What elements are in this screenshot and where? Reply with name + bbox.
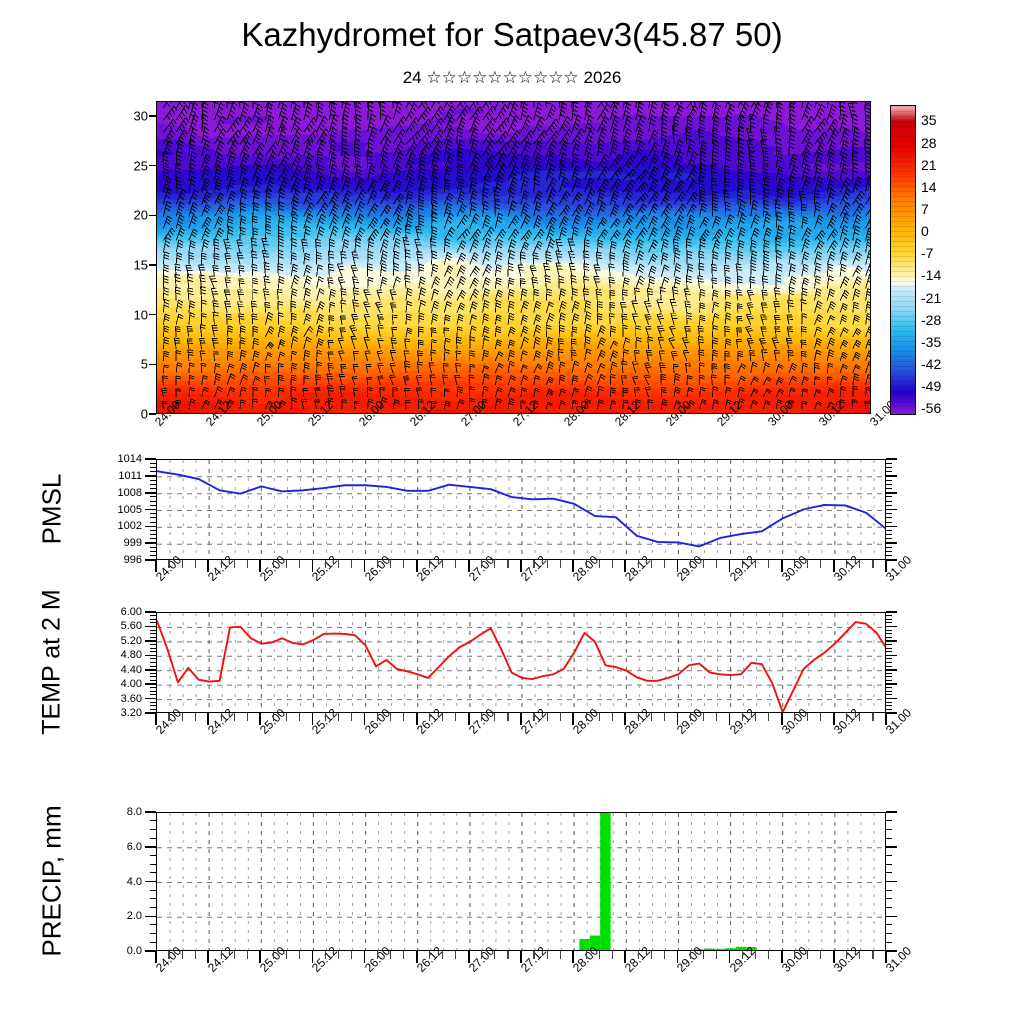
subtitle-year: 2026	[583, 68, 621, 87]
x-minor-tickmark	[351, 713, 352, 721]
y-minor-tickmark	[150, 463, 156, 464]
y-minor-tickmark	[150, 615, 156, 616]
subtitle-month-glyphs: ☆☆☆☆☆☆☆☆☆☆	[426, 68, 578, 87]
x-minor-tickmark	[429, 951, 430, 959]
y-tickmark	[145, 559, 156, 561]
y-tickmark	[145, 509, 156, 511]
tempYTicks-label: 4.40	[121, 664, 142, 676]
y-minor-tickmark-right	[886, 907, 892, 908]
x-minor-tickmark	[859, 713, 860, 721]
x-minor-tickmark	[299, 713, 300, 721]
colorbar-tick-label: 28	[921, 135, 937, 151]
temp-x-axis: 24.0024.1225.0025.1226.0026.1227.0027.12…	[156, 713, 956, 769]
precip-x-axis: 24.0024.1225.0025.1226.0026.1227.0027.12…	[156, 951, 956, 1007]
y-minor-tickmark-right	[886, 547, 892, 548]
y-minor-tickmark	[150, 538, 156, 539]
y-minor-tickmark	[150, 517, 156, 518]
x-minor-tickmark	[599, 951, 600, 959]
colorbar-tick-label: 21	[921, 157, 937, 173]
precYTicks-label: 8.0	[127, 806, 142, 818]
y-minor-tickmark	[150, 855, 156, 856]
pmslYTicks-right-marks	[886, 459, 898, 560]
y-minor-tickmark-right	[886, 924, 892, 925]
y-minor-tickmark-right	[886, 890, 892, 891]
tempYTicks-label: 6.00	[121, 606, 142, 618]
y-tickmark	[145, 846, 156, 848]
x-minor-tickmark	[403, 951, 404, 959]
main-y-tick-label: 15	[134, 257, 148, 272]
y-tickmark	[145, 655, 156, 657]
y-tickmark-right	[886, 811, 897, 813]
x-minor-tickmark	[507, 951, 508, 959]
y-minor-tickmark-right	[886, 658, 892, 659]
colorbar-tick-label: 35	[921, 112, 937, 128]
pmslYTicks-label: 1014	[118, 453, 142, 465]
y-minor-tickmark	[150, 829, 156, 830]
y-tickmark	[145, 526, 156, 528]
y-minor-tickmark	[150, 658, 156, 659]
y-tickmark	[145, 811, 156, 813]
precip-y-axis: 0.02.04.06.08.0	[98, 812, 142, 951]
tempYTicks-label: 4.80	[121, 649, 142, 661]
x-minor-tickmark	[859, 951, 860, 959]
colorbar-tick-label: -14	[921, 267, 941, 283]
main-y-tickmark	[149, 264, 156, 266]
y-minor-tickmark-right	[886, 702, 892, 703]
pmsl-panel	[156, 459, 886, 560]
x-minor-tickmark	[273, 713, 274, 721]
y-minor-tickmark-right	[886, 517, 892, 518]
x-minor-tickmark	[872, 560, 873, 568]
pmsl-y-axis: 99699910021005100810111014	[98, 459, 142, 560]
x-minor-tickmark	[286, 951, 287, 959]
y-minor-tickmark-right	[886, 648, 892, 649]
x-minor-tickmark	[755, 951, 756, 959]
x-minor-tickmark	[651, 713, 652, 721]
colorbar-tick-label: -35	[921, 334, 941, 350]
x-minor-tickmark	[286, 560, 287, 568]
y-minor-tickmark	[150, 648, 156, 649]
tempYTicks-label: 5.60	[121, 620, 142, 632]
x-minor-tickmark	[768, 951, 769, 959]
y-minor-tickmark-right	[886, 855, 892, 856]
x-minor-tickmark	[820, 560, 821, 568]
pmslYTicks-label: 999	[124, 537, 142, 549]
x-minor-tickmark	[846, 951, 847, 959]
main-y-axis: 051015202530	[110, 101, 148, 414]
main-y-tick-label: 10	[134, 307, 148, 322]
y-minor-tickmark-right	[886, 488, 892, 489]
y-tickmark-right	[886, 916, 897, 918]
x-minor-tickmark	[182, 560, 183, 568]
x-minor-tickmark	[455, 951, 456, 959]
y-tickmark	[145, 916, 156, 918]
y-minor-tickmark-right	[886, 872, 892, 873]
x-minor-tickmark	[481, 951, 482, 959]
x-minor-tickmark	[638, 560, 639, 568]
x-minor-tickmark	[377, 951, 378, 959]
y-tickmark-right	[886, 846, 897, 848]
y-tickmark	[145, 475, 156, 477]
y-minor-tickmark	[150, 496, 156, 497]
y-minor-tickmark-right	[886, 513, 892, 514]
x-minor-tickmark	[481, 713, 482, 721]
main-y-tick-label: 0	[141, 407, 148, 422]
y-tickmark-right	[886, 492, 897, 494]
pmslYTicks-label: 996	[124, 554, 142, 566]
x-minor-tickmark	[481, 560, 482, 568]
y-minor-tickmark	[150, 555, 156, 556]
x-minor-tickmark	[286, 713, 287, 721]
y-minor-tickmark-right	[886, 673, 892, 674]
main-y-tick-label: 20	[134, 208, 148, 223]
main-y-tickmark	[149, 314, 156, 316]
y-minor-tickmark-right	[886, 680, 892, 681]
x-minor-tickmark	[703, 713, 704, 721]
y-minor-tickmark	[150, 505, 156, 506]
page-subtitle: 24 ☆☆☆☆☆☆☆☆☆☆ 2026	[0, 68, 1024, 88]
colorbar-tick-label: -49	[921, 378, 941, 394]
x-minor-tickmark	[429, 560, 430, 568]
y-tickmark	[145, 881, 156, 883]
y-minor-tickmark	[150, 924, 156, 925]
y-minor-tickmark	[150, 933, 156, 934]
x-minor-tickmark	[560, 713, 561, 721]
x-minor-tickmark	[533, 951, 534, 959]
main-x-axis: 24.0024.1225.0025.1226.0026.1227.0027.12…	[156, 417, 931, 461]
x-minor-tickmark	[221, 560, 222, 568]
y-minor-tickmark	[150, 622, 156, 623]
x-minor-tickmark	[273, 951, 274, 959]
x-minor-tickmark	[325, 713, 326, 721]
y-minor-tickmark-right	[886, 471, 892, 472]
x-minor-tickmark	[234, 560, 235, 568]
x-minor-tickmark	[533, 713, 534, 721]
x-minor-tickmark	[716, 951, 717, 959]
x-minor-tickmark	[664, 560, 665, 568]
x-minor-tickmark	[377, 560, 378, 568]
x-minor-tickmark	[794, 560, 795, 568]
y-minor-tickmark	[150, 651, 156, 652]
y-minor-tickmark-right	[886, 622, 892, 623]
y-minor-tickmark-right	[886, 463, 892, 464]
main-y-tickmark	[149, 215, 156, 217]
temperature-colorbar	[890, 105, 916, 415]
y-tickmark	[145, 712, 156, 714]
main-y-tick-label: 30	[134, 108, 148, 123]
x-minor-tickmark	[234, 951, 235, 959]
y-minor-tickmark	[150, 644, 156, 645]
x-minor-tickmark	[794, 951, 795, 959]
y-minor-tickmark	[150, 637, 156, 638]
y-minor-tickmark-right	[886, 820, 892, 821]
pmslYTicks-label: 1002	[118, 520, 142, 532]
precYTicks-label: 6.0	[127, 841, 142, 853]
subtitle-day: 24	[403, 68, 422, 87]
x-minor-tickmark	[612, 560, 613, 568]
y-minor-tickmark-right	[886, 651, 892, 652]
y-minor-tickmark-right	[886, 467, 892, 468]
x-minor-tickmark	[168, 951, 169, 959]
y-minor-tickmark	[150, 534, 156, 535]
x-minor-tickmark	[494, 713, 495, 721]
y-minor-tickmark	[150, 530, 156, 531]
x-minor-tickmark	[872, 713, 873, 721]
tempYTicks-label: 4.00	[121, 678, 142, 690]
temp-2m-panel	[156, 612, 886, 713]
y-tickmark	[145, 698, 156, 700]
pmslYTicks-marks	[144, 459, 156, 560]
tempYTicks-marks	[144, 612, 156, 713]
y-tickmark-right	[886, 640, 897, 642]
x-minor-tickmark	[586, 560, 587, 568]
main-y-tick-label: 5	[141, 357, 148, 372]
precYTicks-label: 0.0	[127, 945, 142, 957]
x-minor-tickmark	[338, 713, 339, 721]
x-minor-tickmark	[390, 713, 391, 721]
y-tickmark	[145, 626, 156, 628]
y-minor-tickmark-right	[886, 496, 892, 497]
x-minor-tickmark	[859, 560, 860, 568]
y-minor-tickmark-right	[886, 505, 892, 506]
x-minor-tickmark	[325, 951, 326, 959]
y-minor-tickmark-right	[886, 709, 892, 710]
precYTicks-marks	[144, 812, 156, 951]
y-tickmark-right	[886, 475, 897, 477]
y-tickmark-right	[886, 611, 897, 613]
y-minor-tickmark	[150, 705, 156, 706]
y-tickmark	[145, 611, 156, 613]
upper-air-cross-section-plot	[156, 101, 871, 414]
pmsl-x-axis: 24.0024.1225.0025.1226.0026.1227.0027.12…	[156, 560, 956, 616]
x-minor-tickmark	[768, 713, 769, 721]
y-minor-tickmark	[150, 513, 156, 514]
y-minor-tickmark-right	[886, 530, 892, 531]
y-tickmark	[145, 458, 156, 460]
y-minor-tickmark	[150, 488, 156, 489]
y-minor-tickmark-right	[886, 676, 892, 677]
y-tickmark-right	[886, 683, 897, 685]
pmslYTicks-label: 1008	[118, 487, 142, 499]
colorbar-tick-label: -56	[921, 400, 941, 416]
y-minor-tickmark-right	[886, 619, 892, 620]
x-minor-tickmark	[664, 713, 665, 721]
x-minor-tickmark	[716, 560, 717, 568]
y-minor-tickmark-right	[886, 484, 892, 485]
y-minor-tickmark	[150, 666, 156, 667]
y-minor-tickmark-right	[886, 630, 892, 631]
y-minor-tickmark	[150, 673, 156, 674]
x-minor-tickmark	[494, 560, 495, 568]
x-minor-tickmark	[429, 713, 430, 721]
y-tickmark-right	[886, 559, 897, 561]
colorbar-tick-label: -21	[921, 290, 941, 306]
y-minor-tickmark	[150, 633, 156, 634]
y-minor-tickmark-right	[886, 705, 892, 706]
temp-y-axis: 3.203.604.004.404.805.205.606.00	[98, 612, 142, 713]
y-minor-tickmark-right	[886, 633, 892, 634]
pmslYTicks-label: 1011	[118, 470, 142, 482]
colorbar-tick-label: -28	[921, 312, 941, 328]
x-minor-tickmark	[195, 951, 196, 959]
x-minor-tickmark	[403, 713, 404, 721]
y-tickmark	[145, 542, 156, 544]
y-minor-tickmark-right	[886, 933, 892, 934]
y-minor-tickmark-right	[886, 637, 892, 638]
x-minor-tickmark	[651, 560, 652, 568]
y-tickmark	[145, 492, 156, 494]
main-y-tickmark	[149, 165, 156, 167]
x-minor-tickmark	[690, 713, 691, 721]
x-minor-tickmark	[533, 560, 534, 568]
x-minor-tickmark	[807, 951, 808, 959]
x-minor-tickmark	[390, 560, 391, 568]
y-minor-tickmark	[150, 662, 156, 663]
x-minor-tickmark	[612, 713, 613, 721]
precipitation-panel	[156, 812, 886, 951]
x-minor-tickmark	[351, 560, 352, 568]
x-minor-tickmark	[755, 560, 756, 568]
pmslYTicks-label: 1005	[118, 504, 142, 516]
y-minor-tickmark-right	[886, 662, 892, 663]
x-minor-tickmark	[846, 560, 847, 568]
y-tickmark	[145, 640, 156, 642]
y-tickmark-right	[886, 509, 897, 511]
y-minor-tickmark	[150, 898, 156, 899]
y-minor-tickmark	[150, 480, 156, 481]
x-minor-tickmark	[221, 951, 222, 959]
y-minor-tickmark-right	[886, 666, 892, 667]
x-minor-tickmark	[377, 713, 378, 721]
y-minor-tickmark	[150, 676, 156, 677]
x-minor-tickmark	[755, 713, 756, 721]
x-minor-tickmark	[442, 713, 443, 721]
y-tickmark-right	[886, 458, 897, 460]
x-minor-tickmark	[690, 560, 691, 568]
x-minor-tickmark	[586, 713, 587, 721]
y-minor-tickmark-right	[886, 551, 892, 552]
x-minor-tickmark	[455, 713, 456, 721]
y-minor-tickmark-right	[886, 555, 892, 556]
wind-barbs-overlay	[157, 102, 871, 414]
y-minor-tickmark-right	[886, 501, 892, 502]
y-minor-tickmark	[150, 872, 156, 873]
page-title: Kazhydromet for Satpaev3(45.87 50)	[0, 16, 1024, 54]
y-minor-tickmark-right	[886, 942, 892, 943]
x-minor-tickmark	[390, 951, 391, 959]
y-minor-tickmark	[150, 694, 156, 695]
colorbar-tick-label: 7	[921, 201, 929, 217]
x-minor-tickmark	[846, 713, 847, 721]
x-minor-tickmark	[820, 713, 821, 721]
y-tickmark	[145, 669, 156, 671]
colorbar-tick-label: 0	[921, 223, 929, 239]
y-tickmark-right	[886, 542, 897, 544]
x-minor-tickmark	[182, 951, 183, 959]
x-minor-tickmark	[807, 560, 808, 568]
x-minor-tickmark	[690, 951, 691, 959]
y-tickmark-right	[886, 950, 897, 952]
x-minor-tickmark	[872, 951, 873, 959]
y-minor-tickmark-right	[886, 838, 892, 839]
y-tickmark-right	[886, 881, 897, 883]
x-minor-tickmark	[703, 560, 704, 568]
x-minor-tickmark	[442, 560, 443, 568]
y-minor-tickmark	[150, 838, 156, 839]
x-minor-tickmark	[168, 560, 169, 568]
y-minor-tickmark	[150, 467, 156, 468]
x-minor-tickmark	[247, 951, 248, 959]
precYTicks-right-marks	[886, 812, 898, 951]
x-minor-tickmark	[586, 951, 587, 959]
y-minor-tickmark	[150, 942, 156, 943]
y-minor-tickmark	[150, 471, 156, 472]
x-minor-tickmark	[599, 713, 600, 721]
y-minor-tickmark	[150, 522, 156, 523]
precYTicks-label: 2.0	[127, 910, 142, 922]
y-minor-tickmark	[150, 630, 156, 631]
temp-axis-label: TEMP at 2 M	[38, 589, 67, 734]
y-tickmark-right	[886, 712, 897, 714]
x-minor-tickmark	[338, 951, 339, 959]
x-minor-tickmark	[507, 560, 508, 568]
tempYTicks-label: 5.20	[121, 635, 142, 647]
x-minor-tickmark	[742, 560, 743, 568]
forecast-meteogram-page: Kazhydromet for Satpaev3(45.87 50) 24 ☆☆…	[0, 0, 1024, 1024]
y-minor-tickmark-right	[886, 864, 892, 865]
main-y-tickmarks	[148, 101, 156, 414]
x-minor-tickmark	[403, 560, 404, 568]
y-tickmark	[145, 683, 156, 685]
x-minor-tickmark	[560, 560, 561, 568]
y-minor-tickmark	[150, 709, 156, 710]
y-minor-tickmark	[150, 551, 156, 552]
x-minor-tickmark	[338, 560, 339, 568]
x-minor-tickmark	[221, 713, 222, 721]
x-minor-tickmark	[195, 713, 196, 721]
x-minor-tickmark	[768, 560, 769, 568]
x-minor-tickmark	[716, 713, 717, 721]
x-minor-tickmark	[325, 560, 326, 568]
x-minor-tickmark	[820, 951, 821, 959]
x-minor-tickmark	[599, 560, 600, 568]
x-minor-tickmark	[703, 951, 704, 959]
y-minor-tickmark	[150, 890, 156, 891]
y-minor-tickmark	[150, 864, 156, 865]
y-minor-tickmark	[150, 680, 156, 681]
x-minor-tickmark	[794, 713, 795, 721]
pmsl-axis-label: PMSL	[37, 474, 68, 545]
x-minor-tickmark	[547, 951, 548, 959]
y-minor-tickmark-right	[886, 694, 892, 695]
x-minor-tickmark	[547, 713, 548, 721]
y-minor-tickmark-right	[886, 480, 892, 481]
x-minor-tickmark	[807, 713, 808, 721]
main-y-tick-label: 25	[134, 158, 148, 173]
precip-axis-label: PRECIP, mm	[37, 805, 68, 956]
x-minor-tickmark	[182, 713, 183, 721]
tempYTicks-right-marks	[886, 612, 898, 713]
colorbar-tick-label: -7	[921, 245, 933, 261]
x-minor-tickmark	[664, 951, 665, 959]
x-minor-tickmark	[234, 713, 235, 721]
x-minor-tickmark	[442, 951, 443, 959]
main-y-tickmark	[149, 115, 156, 117]
colorbar-tick-label: 14	[921, 179, 937, 195]
tempYTicks-label: 3.60	[121, 693, 142, 705]
x-minor-tickmark	[273, 560, 274, 568]
x-minor-tickmark	[195, 560, 196, 568]
